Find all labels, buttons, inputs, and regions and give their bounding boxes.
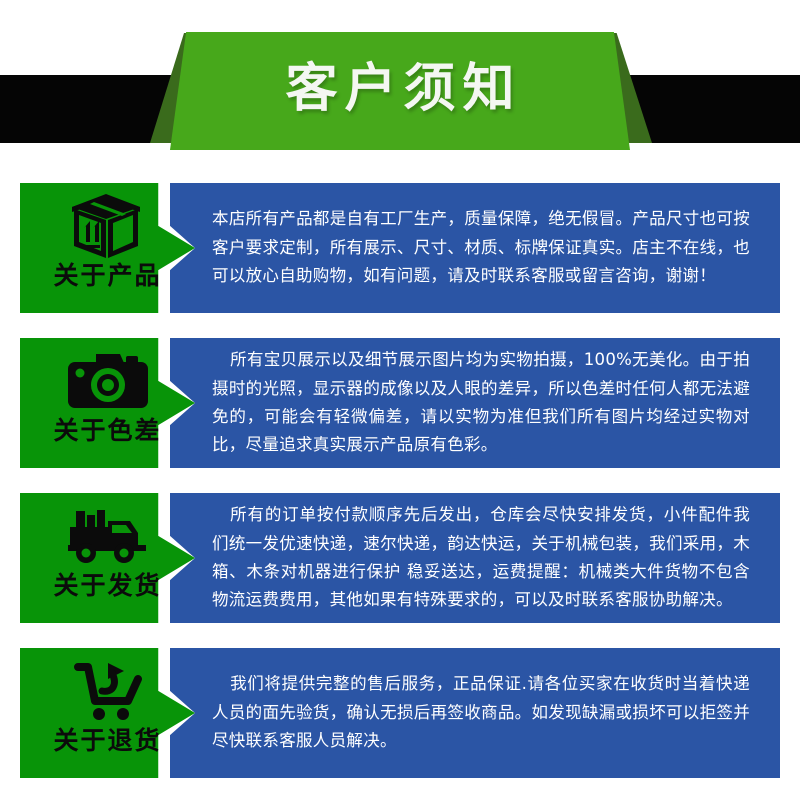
notice-sections: 关于产品 本店所有产品都是自有工厂生产，质量保障，绝无假冒。产品尺寸也可按客户要… [0, 168, 800, 778]
return-cart-icon [39, 648, 177, 728]
banner-ribbon: 客户须知 [170, 32, 630, 150]
notice-section-shipping: 关于发货 所有的订单按付款顺序先后发出，仓库会尽快安排发货，小件配件我们统一发优… [0, 493, 800, 623]
delivery-truck-icon [39, 493, 177, 573]
badge-color[interactable]: 关于色差 [20, 338, 195, 468]
header-banner: 客户须知 [0, 0, 800, 168]
notice-section-return: 关于退货 我们将提供完整的售后服务，正品保证.请各位买家在收货时当着快递人员的面… [0, 648, 800, 778]
badge-label-product: 关于产品 [39, 263, 177, 288]
panel-text-product: 本店所有产品都是自有工厂生产，质量保障，绝无假冒。产品尺寸也可按客户要求定制，所… [212, 205, 750, 290]
badge-label-color: 关于色差 [39, 418, 177, 443]
badge-shipping[interactable]: 关于发货 [20, 493, 195, 623]
panel-text-color: 所有宝贝展示以及细节展示图片均为实物拍摄，100%无美化。由于拍摄时的光照，显示… [212, 346, 750, 460]
panel-return: 我们将提供完整的售后服务，正品保证.请各位买家在收货时当着快递人员的面先验货，确… [170, 648, 780, 778]
badge-return[interactable]: 关于退货 [20, 648, 195, 778]
panel-shipping: 所有的订单按付款顺序先后发出，仓库会尽快安排发货，小件配件我们统一发优速快递，速… [170, 493, 780, 623]
badge-label-return: 关于退货 [39, 728, 177, 753]
badge-product[interactable]: 关于产品 [20, 183, 195, 313]
panel-product: 本店所有产品都是自有工厂生产，质量保障，绝无假冒。产品尺寸也可按客户要求定制，所… [170, 183, 780, 313]
panel-text-shipping: 所有的订单按付款顺序先后发出，仓库会尽快安排发货，小件配件我们统一发优速快递，速… [212, 501, 750, 615]
package-box-icon [39, 183, 177, 263]
notice-section-color: 关于色差 所有宝贝展示以及细节展示图片均为实物拍摄，100%无美化。由于拍摄时的… [0, 338, 800, 468]
camera-icon [39, 338, 177, 418]
panel-text-return: 我们将提供完整的售后服务，正品保证.请各位买家在收货时当着快递人员的面先验货，确… [212, 670, 750, 755]
page-title: 客户须知 [278, 63, 521, 119]
notice-section-product: 关于产品 本店所有产品都是自有工厂生产，质量保障，绝无假冒。产品尺寸也可按客户要… [0, 183, 800, 313]
badge-label-shipping: 关于发货 [39, 573, 177, 598]
panel-color: 所有宝贝展示以及细节展示图片均为实物拍摄，100%无美化。由于拍摄时的光照，显示… [170, 338, 780, 468]
